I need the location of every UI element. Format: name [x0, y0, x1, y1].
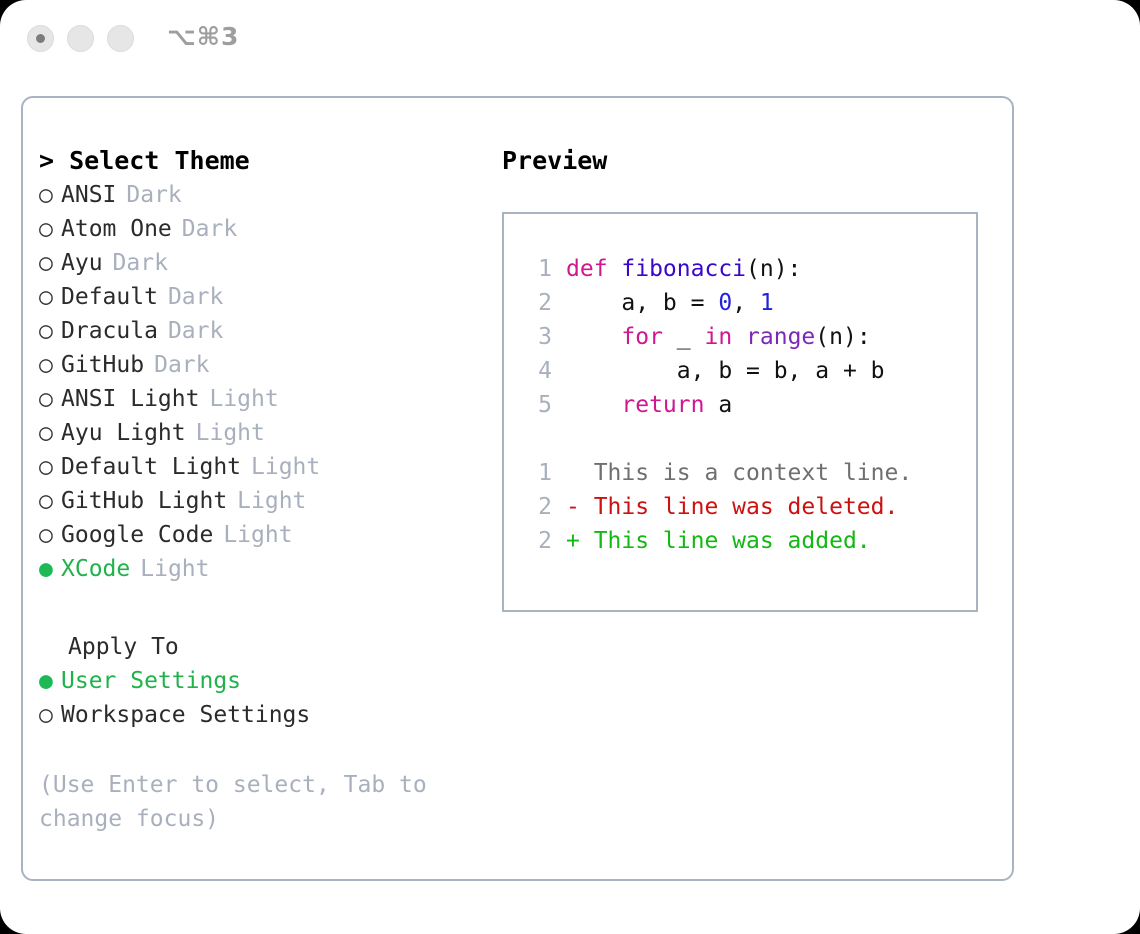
code-text: return a — [566, 388, 732, 422]
code-token: a, b = — [566, 290, 718, 316]
code-token: - This line was deleted. — [566, 494, 898, 520]
code-token — [566, 324, 621, 350]
code-token — [732, 324, 746, 350]
theme-option-label: Dracula — [61, 314, 158, 348]
radio-unselected-icon: ○ — [39, 246, 61, 280]
theme-option-label: ANSI Light — [61, 382, 199, 416]
radio-unselected-icon: ○ — [39, 698, 61, 732]
apply-option-workspace-settings[interactable]: ○Workspace Settings — [39, 698, 489, 732]
theme-option-google-code[interactable]: ○Google CodeLight — [39, 518, 489, 552]
apply-option-label: Workspace Settings — [61, 698, 310, 732]
code-line: 2 a, b = 0, 1 — [524, 286, 976, 320]
code-line: 5 return a — [524, 388, 976, 422]
code-token: _ — [663, 324, 705, 350]
code-text: a, b = 0, 1 — [566, 286, 774, 320]
preview-header: Preview — [502, 144, 1002, 178]
radio-unselected-icon: ○ — [39, 280, 61, 314]
select-theme-header: > Select Theme — [39, 144, 489, 178]
theme-variant-tag: Light — [196, 416, 265, 450]
traffic-light-1[interactable] — [27, 25, 54, 52]
radio-unselected-icon: ○ — [39, 450, 61, 484]
radio-unselected-icon: ○ — [39, 518, 61, 552]
theme-option-list: ○ANSIDark○Atom OneDark○AyuDark○DefaultDa… — [39, 178, 489, 586]
theme-option-default-light[interactable]: ○Default LightLight — [39, 450, 489, 484]
radio-unselected-icon: ○ — [39, 348, 61, 382]
line-number: 3 — [524, 320, 552, 354]
theme-option-label: Default — [61, 280, 158, 314]
radio-unselected-icon: ○ — [39, 416, 61, 450]
code-line: 3 for _ in range(n): — [524, 320, 976, 354]
theme-option-ansi[interactable]: ○ANSIDark — [39, 178, 489, 212]
line-number: 2 — [524, 490, 552, 524]
theme-option-label: Ayu Light — [61, 416, 186, 450]
app-window: ⌥⌘3 > Select Theme ○ANSIDark○Atom OneDar… — [0, 0, 1140, 934]
code-token: fibonacci — [621, 256, 746, 282]
apply-to-header: Apply To — [39, 630, 489, 664]
theme-variant-tag: Dark — [113, 246, 168, 280]
radio-unselected-icon: ○ — [39, 314, 61, 348]
theme-variant-tag: Dark — [126, 178, 181, 212]
radio-unselected-icon: ○ — [39, 382, 61, 416]
line-number: 2 — [524, 524, 552, 558]
code-token — [566, 392, 621, 418]
traffic-light-3[interactable] — [107, 25, 134, 52]
theme-option-github[interactable]: ○GitHubDark — [39, 348, 489, 382]
code-text: This is a context line. — [566, 456, 912, 490]
radio-unselected-icon: ○ — [39, 178, 61, 212]
theme-variant-tag: Light — [209, 382, 278, 416]
line-number: 5 — [524, 388, 552, 422]
theme-option-label: XCode — [61, 552, 130, 586]
code-text: - This line was deleted. — [566, 490, 898, 524]
code-token: 0 — [718, 290, 732, 316]
keyboard-shortcut-label: ⌥⌘3 — [167, 22, 239, 51]
theme-variant-tag: Light — [251, 450, 320, 484]
line-number: 1 — [524, 456, 552, 490]
diff-line: 1 This is a context line. — [524, 456, 976, 490]
code-text: + This line was added. — [566, 524, 871, 558]
theme-option-atom-one[interactable]: ○Atom OneDark — [39, 212, 489, 246]
theme-option-label: GitHub Light — [61, 484, 227, 518]
theme-variant-tag: Light — [223, 518, 292, 552]
diff-line: 2+ This line was added. — [524, 524, 976, 558]
code-text: for _ in range(n): — [566, 320, 871, 354]
theme-variant-tag: Dark — [154, 348, 209, 382]
theme-option-dracula[interactable]: ○DraculaDark — [39, 314, 489, 348]
code-token: , — [732, 290, 760, 316]
theme-option-ayu[interactable]: ○AyuDark — [39, 246, 489, 280]
theme-option-label: GitHub — [61, 348, 144, 382]
theme-variant-tag: Dark — [182, 212, 237, 246]
apply-option-label: User Settings — [61, 664, 241, 698]
theme-option-label: Default Light — [61, 450, 241, 484]
title-bar: ⌥⌘3 — [0, 0, 1140, 78]
apply-option-list: ●User Settings○Workspace Settings — [39, 664, 489, 732]
code-token: return — [621, 392, 704, 418]
main-panel: > Select Theme ○ANSIDark○Atom OneDark○Ay… — [21, 96, 1014, 881]
theme-option-xcode[interactable]: ●XCodeLight — [39, 552, 489, 586]
theme-option-ansi-light[interactable]: ○ANSI LightLight — [39, 382, 489, 416]
radio-unselected-icon: ○ — [39, 484, 61, 518]
code-line: 4 a, b = b, a + b — [524, 354, 976, 388]
code-diff-spacer — [524, 422, 976, 456]
panel-body: > Select Theme ○ANSIDark○Atom OneDark○Ay… — [23, 98, 1012, 879]
code-token: + This line was added. — [566, 528, 871, 554]
preview-box: 1def fibonacci(n):2 a, b = 0, 13 for _ i… — [502, 212, 978, 612]
theme-column: > Select Theme ○ANSIDark○Atom OneDark○Ay… — [39, 144, 489, 836]
keyboard-hint-text: (Use Enter to select, Tab to change focu… — [39, 768, 439, 836]
theme-variant-tag: Light — [140, 552, 209, 586]
code-token: This is a context line. — [566, 460, 912, 486]
theme-option-label: Atom One — [61, 212, 172, 246]
code-sample: 1def fibonacci(n):2 a, b = 0, 13 for _ i… — [524, 252, 976, 422]
diff-sample: 1 This is a context line.2- This line wa… — [524, 456, 976, 558]
section-spacer — [39, 586, 489, 630]
line-number: 2 — [524, 286, 552, 320]
code-token: range — [746, 324, 815, 350]
theme-option-github-light[interactable]: ○GitHub LightLight — [39, 484, 489, 518]
code-token: (n): — [746, 256, 801, 282]
preview-column: Preview 1def fibonacci(n):2 a, b = 0, 13… — [502, 144, 1002, 612]
code-token: for — [621, 324, 663, 350]
code-text: a, b = b, a + b — [566, 354, 885, 388]
theme-option-label: Ayu — [61, 246, 103, 280]
record-dot-icon — [36, 34, 45, 43]
code-token: (n): — [815, 324, 870, 350]
theme-variant-tag: Dark — [168, 314, 223, 348]
theme-option-label: Google Code — [61, 518, 213, 552]
radio-unselected-icon: ○ — [39, 212, 61, 246]
theme-variant-tag: Light — [237, 484, 306, 518]
line-number: 4 — [524, 354, 552, 388]
code-token: def — [566, 256, 621, 282]
code-text: def fibonacci(n): — [566, 252, 801, 286]
line-number: 1 — [524, 252, 552, 286]
traffic-light-group — [27, 25, 134, 52]
apply-option-user-settings[interactable]: ●User Settings — [39, 664, 489, 698]
theme-option-default[interactable]: ○DefaultDark — [39, 280, 489, 314]
theme-variant-tag: Dark — [168, 280, 223, 314]
code-token: 1 — [760, 290, 774, 316]
theme-option-ayu-light[interactable]: ○Ayu LightLight — [39, 416, 489, 450]
code-token: a — [704, 392, 732, 418]
radio-selected-icon: ● — [39, 552, 61, 586]
traffic-light-2[interactable] — [67, 25, 94, 52]
code-token: in — [704, 324, 732, 350]
radio-selected-icon: ● — [39, 664, 61, 698]
theme-option-label: ANSI — [61, 178, 116, 212]
diff-line: 2- This line was deleted. — [524, 490, 976, 524]
code-token: a, b = b, a + b — [566, 358, 885, 384]
code-line: 1def fibonacci(n): — [524, 252, 976, 286]
